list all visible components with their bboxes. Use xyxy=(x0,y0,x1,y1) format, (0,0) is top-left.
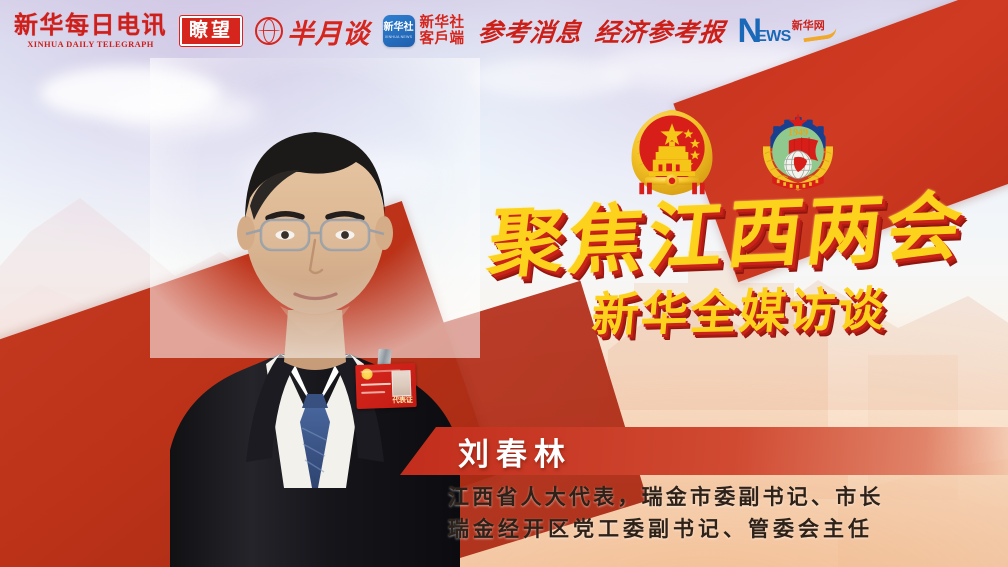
logo-xinhua-news-agency-app[interactable]: 新华社 XINHUA NEWS 新华社 客戶端 xyxy=(383,15,465,47)
cppcc-year: 1949 xyxy=(788,127,808,138)
logo-banyuetan[interactable]: 半月谈 xyxy=(255,12,370,51)
logo-xinhua-app-line-2: 客戶端 xyxy=(420,31,465,47)
badge-photo xyxy=(391,370,411,397)
logo-xinhuanet[interactable]: N EWS 新华网 xyxy=(738,18,825,45)
guest-title-block: 江西省人大代表，瑞金市委副书记、市长 瑞金经开区党工委副书记、管委会主任 xyxy=(448,482,1008,546)
logo-xinhua-app-line-1: 新华社 xyxy=(420,15,465,31)
guest-title-line-1: 江西省人大代表，瑞金市委副书记、市长 xyxy=(448,482,1008,514)
guest-name-banner: 刘春林 xyxy=(400,427,1008,475)
logo-xinhua-daily-telegraph[interactable]: 新华每日电讯 XINHUA DAILY TELEGRAPH xyxy=(14,14,167,49)
logo-outlook-weekly-label: 瞭望 xyxy=(189,21,233,41)
title-block: 聚焦江西两会 新华全媒访谈 xyxy=(490,196,960,338)
logo-economic-information-daily-label: 经济参考报 xyxy=(593,13,727,49)
interview-poster: 代表证 xyxy=(0,0,1008,567)
main-title: 聚焦江西两会 xyxy=(484,187,966,286)
logo-economic-information-daily[interactable]: 经济参考报 xyxy=(595,13,725,49)
guest-portrait xyxy=(150,58,480,567)
national-emblem-of-china xyxy=(624,104,720,200)
logo-xinhua-daily-telegraph-cn: 新华每日电讯 xyxy=(14,14,167,38)
delegate-badge: 代表证 xyxy=(355,363,416,409)
xinhua-app-icon-en: XINHUA NEWS xyxy=(385,35,412,39)
cppcc-emblem: 1949 xyxy=(752,104,844,196)
xinhua-app-icon: 新华社 XINHUA NEWS xyxy=(383,15,415,47)
guest-name: 刘春林 xyxy=(458,429,572,474)
xinhua-app-icon-cn: 新华社 xyxy=(384,23,414,33)
guest-title-line-2: 瑞金经开区党工委副书记、管委会主任 xyxy=(448,514,1008,546)
logo-cankao-xiaoxi[interactable]: 参考消息 xyxy=(478,13,582,49)
logo-outlook-weekly[interactable]: 瞭望 xyxy=(180,16,242,46)
media-logo-bar: 新华每日电讯 XINHUA DAILY TELEGRAPH 瞭望 半月谈 新华社… xyxy=(0,0,1008,62)
logo-xinhuanet-rest: EWS xyxy=(756,30,791,44)
globe-icon xyxy=(255,17,283,45)
badge-label: 代表证 xyxy=(392,395,412,406)
logo-banyuetan-label: 半月谈 xyxy=(287,12,370,51)
logo-cankao-xiaoxi-label: 参考消息 xyxy=(476,13,584,49)
sub-title: 新华全媒访谈 xyxy=(515,284,962,343)
logo-xinhua-daily-telegraph-en: XINHUA DAILY TELEGRAPH xyxy=(14,40,167,49)
